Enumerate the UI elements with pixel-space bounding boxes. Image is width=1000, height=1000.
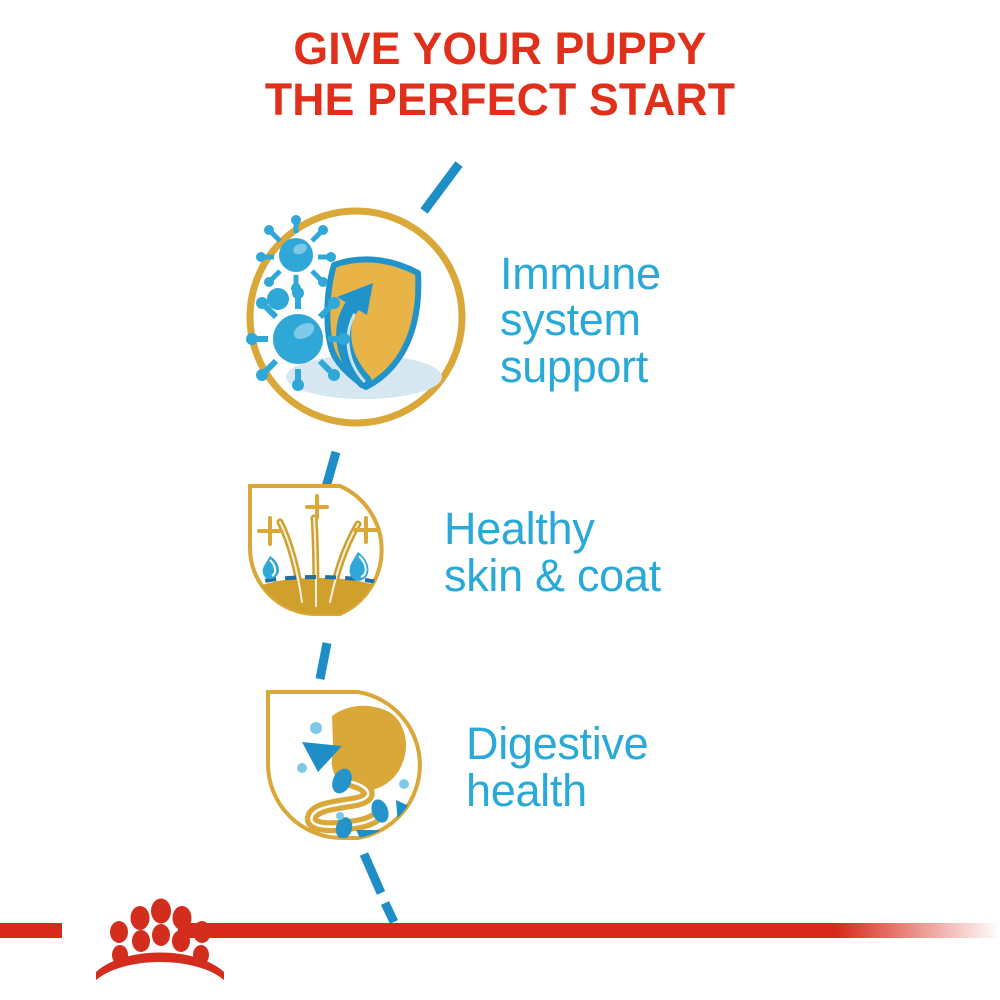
title-line-2: THE PERFECT START xyxy=(5,77,995,122)
poster-canvas: GIVE YOUR PUPPY THE PERFECT START xyxy=(0,0,1000,1000)
virus-particle-large xyxy=(246,287,350,391)
benefit-row-skin: Healthy skin & coat xyxy=(240,474,661,631)
benefit-row-immune: Immune system support xyxy=(242,203,661,436)
benefit-label-digestive: Digestive health xyxy=(466,721,648,814)
rule-left xyxy=(0,923,62,938)
shield-virus-icon xyxy=(242,203,470,436)
skin-dermis xyxy=(240,578,408,626)
royal-canin-crown-logo xyxy=(96,899,224,981)
benefit-label-skin: Healthy skin & coat xyxy=(444,506,661,599)
page-title: GIVE YOUR PUPPY THE PERFECT START xyxy=(0,26,1000,122)
benefit-label-immune: Immune system support xyxy=(500,251,661,390)
rule-right xyxy=(178,923,1000,938)
skin-hair-follicle-icon xyxy=(240,474,410,631)
title-line-1: GIVE YOUR PUPPY xyxy=(5,26,995,71)
stomach-intestine-icon xyxy=(258,680,428,855)
dash-segment-2 xyxy=(320,643,327,679)
benefit-row-digestive: Digestive health xyxy=(258,680,648,855)
virus-dot xyxy=(267,288,289,310)
footer-brand-bar xyxy=(0,880,1000,1000)
